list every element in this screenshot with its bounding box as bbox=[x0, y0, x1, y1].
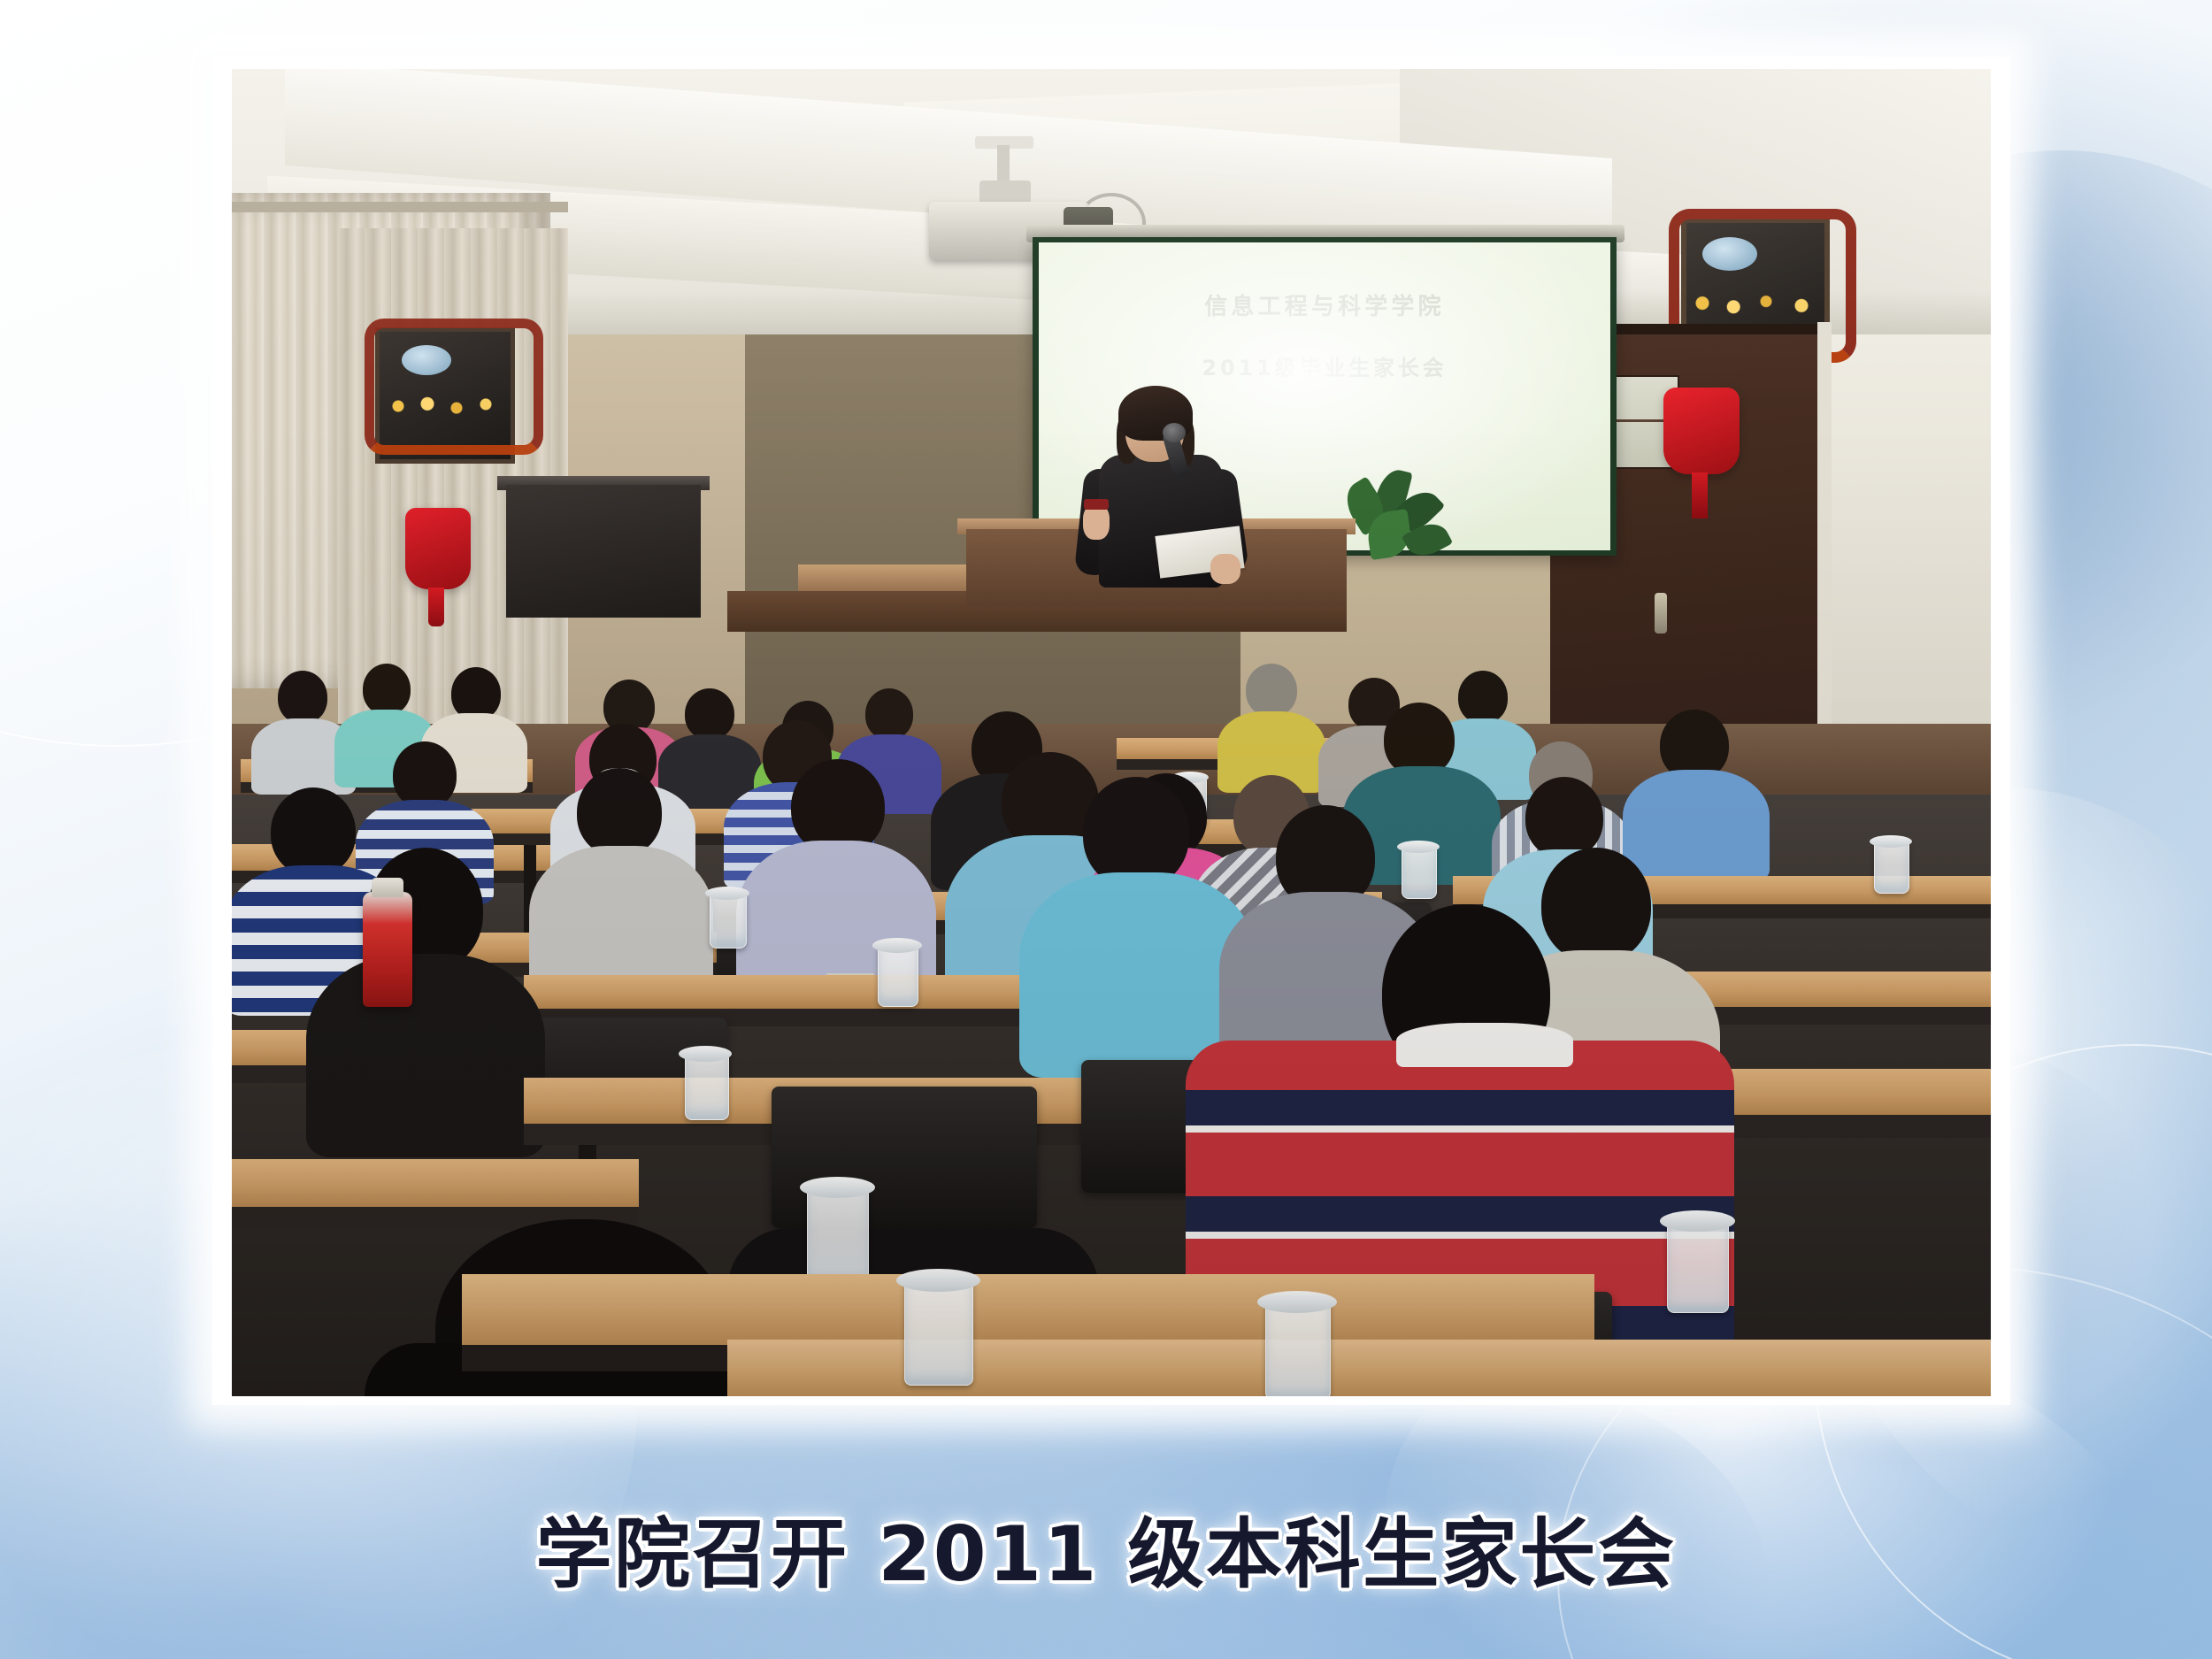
water-cup-icon bbox=[1667, 1219, 1729, 1313]
presenter-hand-paper bbox=[1210, 554, 1240, 584]
back-wall-far-right bbox=[1816, 334, 1991, 750]
person-head bbox=[865, 688, 913, 740]
garland-lights-left bbox=[382, 395, 515, 418]
meeting-photograph: 信息工程与科学学院 2011级毕业生家长会 bbox=[232, 69, 1991, 1396]
water-cup-icon bbox=[807, 1186, 869, 1283]
water-cup-rim bbox=[872, 938, 922, 953]
person-head bbox=[685, 688, 734, 740]
presenter-hand-mic bbox=[1083, 504, 1110, 540]
curtain-rod bbox=[232, 202, 568, 212]
water-cup-rim bbox=[1257, 1291, 1337, 1313]
water-cup-icon bbox=[685, 1053, 729, 1120]
person-head bbox=[1525, 777, 1603, 858]
water-cup-icon bbox=[1402, 846, 1437, 899]
person-head bbox=[451, 667, 501, 720]
projector-mount-bracket bbox=[979, 180, 1031, 204]
water-cup-icon-foreground bbox=[904, 1279, 973, 1386]
table-row-1-left bbox=[232, 1159, 639, 1207]
person-head bbox=[271, 787, 356, 876]
bottle-cap bbox=[372, 878, 403, 897]
garland-lights-right bbox=[1688, 292, 1830, 317]
water-cup-icon-foreground bbox=[1265, 1301, 1331, 1396]
person-head bbox=[363, 664, 411, 715]
person-body bbox=[306, 954, 545, 1157]
person-head bbox=[393, 741, 457, 809]
red-ornament-left bbox=[405, 508, 471, 589]
water-cup-rim bbox=[679, 1046, 732, 1062]
red-ornament-right bbox=[1663, 388, 1740, 474]
door-frame bbox=[1817, 322, 1832, 782]
water-cup-rim bbox=[705, 887, 749, 900]
water-cup-icon bbox=[710, 892, 747, 949]
person-head bbox=[278, 671, 327, 724]
water-cup-rim bbox=[800, 1177, 875, 1198]
water-cup-rim bbox=[1397, 841, 1440, 853]
person-head bbox=[1541, 848, 1651, 963]
presentation-slide: 信息工程与科学学院 2011级毕业生家长会 bbox=[0, 0, 2212, 1659]
presenter-wristband bbox=[1084, 499, 1109, 510]
water-cup-rim bbox=[896, 1269, 980, 1292]
red-garland-left bbox=[365, 319, 543, 455]
red-ornament-tail-right bbox=[1692, 472, 1708, 518]
slide-caption: 学院召开 2011 级本科生家长会 bbox=[0, 1492, 2212, 1602]
water-cup-rim bbox=[1660, 1210, 1735, 1232]
water-cup-rim bbox=[1870, 835, 1912, 848]
water-cup-icon bbox=[1874, 841, 1909, 894]
polo-collar bbox=[1396, 1023, 1573, 1067]
red-ornament-tail-left bbox=[428, 588, 444, 626]
door-handle-icon bbox=[1655, 593, 1667, 634]
person-body bbox=[1623, 770, 1770, 881]
person-head bbox=[577, 768, 662, 856]
water-cup-icon bbox=[878, 945, 918, 1007]
table-foreground bbox=[462, 1274, 1594, 1345]
person-head bbox=[1458, 671, 1508, 724]
bottle-icon bbox=[363, 892, 412, 1007]
front-left-cabinet bbox=[506, 485, 701, 618]
microphone-head bbox=[1163, 423, 1186, 442]
person-head bbox=[1246, 664, 1297, 717]
